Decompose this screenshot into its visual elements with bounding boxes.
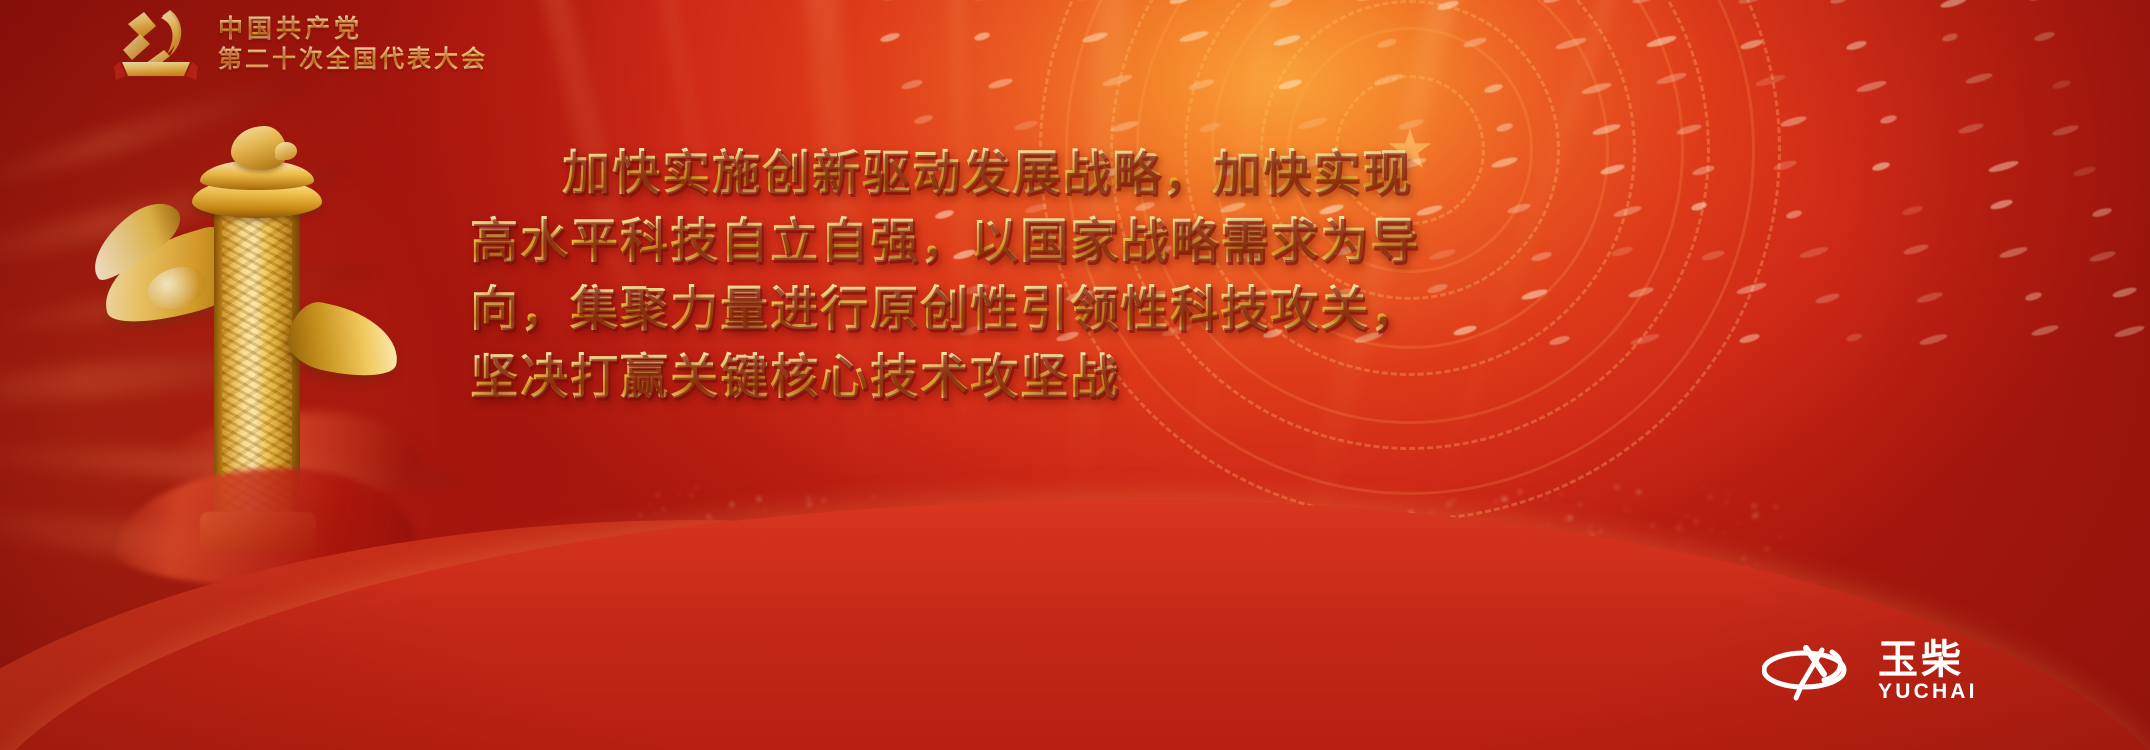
banner-root: 中国共产党 第二十次全国代表大会 加快实施创新驱动发展战略，加快实现 高水平科技… xyxy=(0,0,2150,750)
yuchai-ellipse-mark xyxy=(1762,640,1862,702)
vignette-overlay xyxy=(0,0,2150,750)
yuchai-logo[interactable]: 玉柴 YUCHAI xyxy=(1762,640,1978,702)
yuchai-name-cn: 玉柴 xyxy=(1878,640,1978,680)
yuchai-wordmark: 玉柴 YUCHAI xyxy=(1878,640,1978,702)
yuchai-name-en: YUCHAI xyxy=(1878,681,1978,702)
